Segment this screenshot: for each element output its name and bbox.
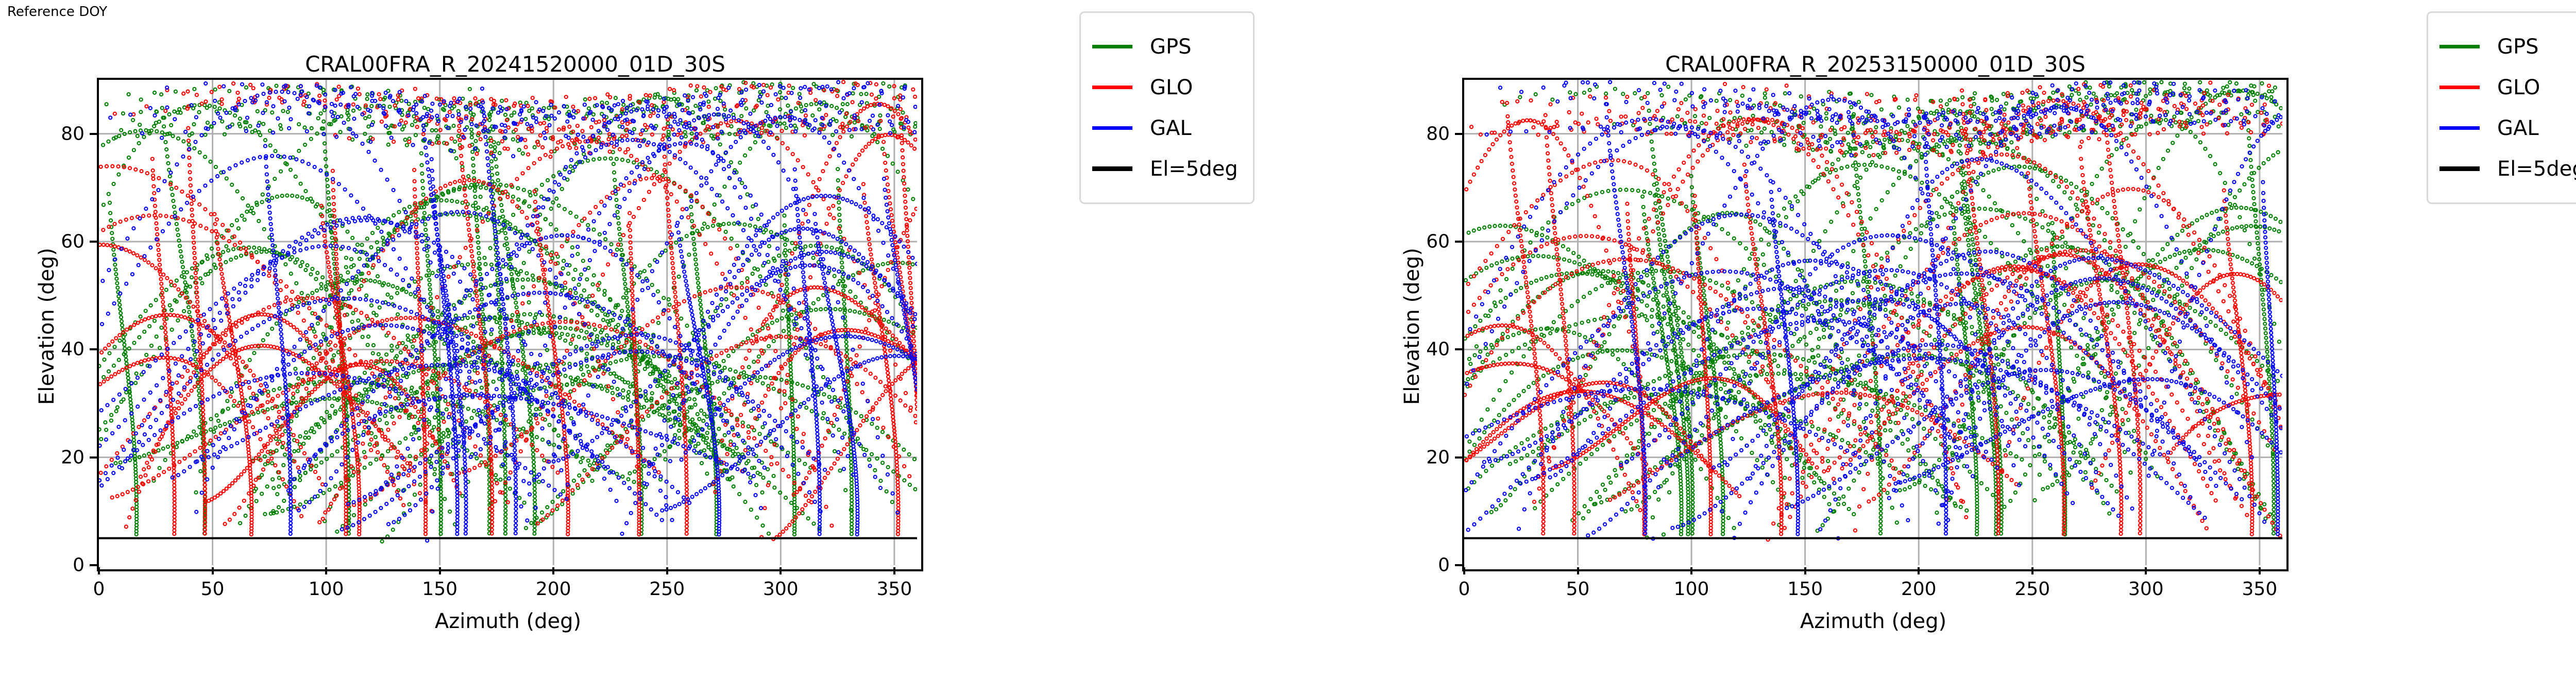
panel-1-ytick-label: 0 — [1438, 555, 1450, 576]
panel-0-xtick-label: 100 — [309, 579, 344, 600]
panel-0-xtick-mark — [779, 567, 782, 574]
legend-entry-elmask[interactable]: El=5deg — [2439, 148, 2576, 189]
panel-0-axes — [97, 78, 923, 571]
legend-swatch-glo — [1092, 86, 1132, 89]
legend-label-elmask: El=5deg — [2497, 157, 2576, 181]
legend-label-elmask: El=5deg — [1150, 157, 1238, 181]
panel-0-ytick-mark — [90, 133, 97, 135]
panel-0-xlabel: Azimuth (deg) — [97, 609, 919, 633]
legend-entry-gal[interactable]: GAL — [2439, 108, 2576, 148]
panel-0-xtick-label: 300 — [763, 579, 799, 600]
panel-1-ytick-label: 40 — [1426, 339, 1450, 360]
panel-1-xtick-mark — [1918, 567, 1920, 574]
track-group-glo — [99, 80, 917, 540]
panel-1-xtick-mark — [2259, 567, 2261, 574]
panel-1-title: CRAL00FRA_R_20253150000_01D_30S — [1463, 52, 2287, 77]
panel-1-xtick-label: 50 — [1566, 579, 1590, 600]
legend-swatch-elmask — [2439, 166, 2480, 171]
panel-0-xtick-mark — [98, 567, 100, 574]
legend-label-gal: GAL — [1150, 116, 1192, 140]
panel-1-ytick-mark — [1455, 133, 1462, 135]
legend-swatch-gal — [2439, 126, 2480, 130]
legend-label-gal: GAL — [2497, 116, 2539, 140]
panel-0-title: CRAL00FRA_R_20241520000_01D_30S — [103, 52, 927, 77]
panel-1-xtick-label: 200 — [1901, 579, 1937, 600]
panel-0-xtick-label: 50 — [201, 579, 225, 600]
panel-1-ytick-mark — [1455, 241, 1462, 243]
panel-1-xtick-label: 300 — [2128, 579, 2164, 600]
panel-1-ylabel: Elevation (deg) — [1400, 248, 1424, 405]
panel-0-xtick-label: 250 — [649, 579, 685, 600]
legend-label-gps: GPS — [2497, 35, 2539, 59]
panel-0-ytick-mark — [90, 564, 97, 566]
panel-1-ytick-label: 20 — [1426, 447, 1450, 468]
panel-0-xtick-mark — [893, 567, 895, 574]
legend-swatch-elmask — [1092, 166, 1132, 171]
panel-1-data-surface — [1464, 80, 2282, 565]
panel-1-xtick-label: 350 — [2242, 579, 2278, 600]
legend-swatch-gps — [1092, 45, 1132, 48]
panel-0-ytick-label: 60 — [61, 231, 84, 252]
panel-1-xtick-label: 150 — [1787, 579, 1823, 600]
legend-label-glo: GLO — [2497, 76, 2540, 99]
legend-swatch-gps — [2439, 45, 2480, 48]
panel-1-xtick-mark — [1577, 567, 1579, 574]
panel-1-xtick-mark — [1463, 567, 1465, 574]
panel-1-ytick-label: 60 — [1426, 231, 1450, 252]
panel-1-xlabel: Azimuth (deg) — [1462, 609, 2284, 633]
legend-label-gps: GPS — [1150, 35, 1192, 59]
panel-0-legend: GPS GLO GAL El=5deg — [1079, 11, 1255, 204]
panel-0-data-surface — [99, 80, 917, 565]
panel-0-xtick-label: 350 — [877, 579, 912, 600]
legend-entry-elmask[interactable]: El=5deg — [1092, 148, 1242, 189]
legend-swatch-gal — [1092, 126, 1132, 130]
panel-1-axes — [1462, 78, 2289, 571]
track-group-glo — [1464, 81, 2282, 541]
panel-1-xtick-label: 100 — [1674, 579, 1709, 600]
panel-0-ytick-mark — [90, 348, 97, 350]
figure-canvas: Reference DOY CRAL00FRA_R_20241520000_01… — [0, 0, 2576, 678]
panel-0-ytick-label: 0 — [73, 555, 84, 576]
panel-0-xtick-label: 150 — [422, 579, 457, 600]
plot-panel-1: CRAL00FRA_R_20253150000_01D_30S Elevatio… — [1386, 0, 2576, 678]
panel-1-ytick-mark — [1455, 564, 1462, 566]
panel-1-xtick-mark — [1804, 567, 1806, 574]
panel-0-ytick-label: 80 — [61, 123, 84, 144]
track-group-gal — [1464, 80, 2282, 540]
panel-1-xtick-mark — [2145, 567, 2147, 574]
legend-entry-gps[interactable]: GPS — [1092, 26, 1242, 67]
panel-0-ytick-label: 40 — [61, 339, 84, 360]
panel-0-xtick-mark — [666, 567, 668, 574]
panel-0-ylabel: Elevation (deg) — [35, 248, 59, 405]
plot-panel-0: CRAL00FRA_R_20241520000_01D_30S Elevatio… — [0, 0, 1278, 678]
panel-1-ytick-label: 80 — [1426, 123, 1450, 144]
legend-swatch-glo — [2439, 86, 2480, 89]
panel-1-xtick-label: 0 — [1459, 579, 1470, 600]
panel-0-xtick-mark — [552, 567, 554, 574]
legend-entry-glo[interactable]: GLO — [2439, 67, 2576, 108]
legend-label-glo: GLO — [1150, 76, 1193, 99]
panel-0-ytick-mark — [90, 456, 97, 459]
panel-1-ytick-mark — [1455, 348, 1462, 350]
legend-entry-gps[interactable]: GPS — [2439, 26, 2576, 67]
panel-1-legend: GPS GLO GAL El=5deg — [2427, 11, 2576, 204]
panel-0-xtick-label: 200 — [536, 579, 571, 600]
panel-0-xtick-mark — [325, 567, 327, 574]
panel-0-xtick-mark — [439, 567, 441, 574]
panel-1-ytick-mark — [1455, 456, 1462, 459]
legend-entry-gal[interactable]: GAL — [1092, 108, 1242, 148]
panel-1-xtick-mark — [2031, 567, 2033, 574]
panel-1-xtick-label: 250 — [2014, 579, 2050, 600]
panel-0-ytick-label: 20 — [61, 447, 84, 468]
panel-0-ytick-mark — [90, 241, 97, 243]
panel-0-xtick-mark — [212, 567, 214, 574]
panel-1-xtick-mark — [1690, 567, 1692, 574]
legend-entry-glo[interactable]: GLO — [1092, 67, 1242, 108]
panel-0-xtick-label: 0 — [93, 579, 105, 600]
